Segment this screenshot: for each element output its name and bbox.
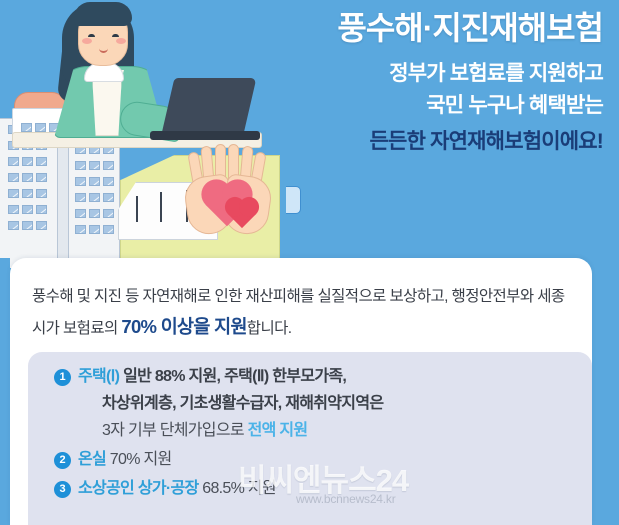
lede-text-after: 합니다. bbox=[247, 320, 292, 337]
building-right-icon bbox=[68, 138, 120, 268]
list-item: 3소상공인 상가·공장 68.5% 지원 bbox=[54, 476, 592, 503]
headline-block: 풍수해·지진재해보험 정부가 보험료를 지원하고 국민 누구나 혜택받는 든든한… bbox=[211, 8, 603, 158]
subtitle-line-1: 정부가 보험료를 지원하고 bbox=[211, 58, 603, 90]
list-text-segment: 온실 bbox=[78, 451, 110, 468]
list-item: 1주택(Ⅰ) 일반 88% 지원, 주택(Ⅱ) 한부모가족,차상위계층, 기초생… bbox=[54, 364, 592, 445]
list-item-line: 3자 기부 단체가입으로 전액 지원 bbox=[78, 418, 383, 445]
lede-text-before: 풍수해 및 지진 등 자연재해로 인한 재산피해를 실질적으로 보상하고, 행정… bbox=[32, 288, 565, 337]
bangs-icon bbox=[74, 2, 132, 26]
list-text-segment: 소상공인 상가·공장 bbox=[78, 480, 202, 497]
fence-post-icon bbox=[136, 196, 138, 222]
eye-icon bbox=[112, 34, 119, 37]
list-bullet-number: 2 bbox=[54, 452, 71, 469]
right-edge-strip bbox=[592, 258, 619, 525]
support-list: 1주택(Ⅰ) 일반 88% 지원, 주택(Ⅱ) 한부모가족,차상위계층, 기초생… bbox=[54, 364, 592, 502]
fence-post-icon bbox=[160, 192, 162, 222]
list-text-segment: 주택(Ⅰ) bbox=[78, 368, 123, 385]
list-item-body: 주택(Ⅰ) 일반 88% 지원, 주택(Ⅱ) 한부모가족,차상위계층, 기초생활… bbox=[78, 364, 383, 445]
cheek-icon bbox=[82, 38, 92, 44]
lede-highlight: 70% 이상을 지원 bbox=[121, 316, 246, 337]
list-item-line: 차상위계층, 기초생활수급자, 재해취약지역은 bbox=[78, 391, 383, 418]
list-item-line: 주택(Ⅰ) 일반 88% 지원, 주택(Ⅱ) 한부모가족, bbox=[78, 364, 383, 391]
list-item-body: 소상공인 상가·공장 68.5% 지원 bbox=[78, 476, 276, 503]
subtitle-line-2: 국민 누구나 혜택받는 bbox=[211, 90, 603, 122]
list-text-segment: 전액 지원 bbox=[248, 422, 308, 439]
list-item-body: 온실 70% 지원 bbox=[78, 447, 172, 474]
cheek-icon bbox=[116, 38, 126, 44]
support-list-panel: 1주택(Ⅰ) 일반 88% 지원, 주택(Ⅱ) 한부모가족,차상위계층, 기초생… bbox=[28, 352, 592, 525]
left-edge-strip bbox=[0, 258, 10, 525]
list-text-segment: 주택(Ⅱ) 한부모가족, bbox=[224, 368, 346, 385]
subtitle-emphasis: 든든한 자연재해보험이에요! bbox=[211, 126, 603, 158]
list-item: 2온실 70% 지원 bbox=[54, 447, 592, 474]
list-item-line: 온실 70% 지원 bbox=[78, 447, 172, 474]
list-text-segment: 차상위계층, 기초생활수급자, 재해취약지역은 bbox=[102, 395, 383, 412]
list-text-segment: 68.5% 지원 bbox=[202, 480, 276, 497]
list-text-segment: 일반 88% 지원, bbox=[123, 368, 224, 385]
hero-section: 풍수해·지진재해보험 정부가 보험료를 지원하고 국민 누구나 혜택받는 든든한… bbox=[0, 0, 619, 268]
lede-paragraph: 풍수해 및 지진 등 자연재해로 인한 재산피해를 실질적으로 보상하고, 행정… bbox=[10, 258, 592, 342]
list-item-line: 소상공인 상가·공장 68.5% 지원 bbox=[78, 476, 276, 503]
list-text-segment: 3자 기부 단체가입으로 bbox=[102, 422, 248, 439]
page-title: 풍수해·지진재해보험 bbox=[211, 8, 603, 48]
eye-icon bbox=[88, 34, 95, 37]
list-bullet-number: 1 bbox=[54, 369, 71, 386]
poster-root: 풍수해·지진재해보험 정부가 보험료를 지원하고 국민 누구나 혜택받는 든든한… bbox=[0, 0, 619, 525]
list-text-segment: 70% 지원 bbox=[110, 451, 172, 468]
list-bullet-number: 3 bbox=[54, 481, 71, 498]
decoration-icon bbox=[286, 186, 301, 214]
